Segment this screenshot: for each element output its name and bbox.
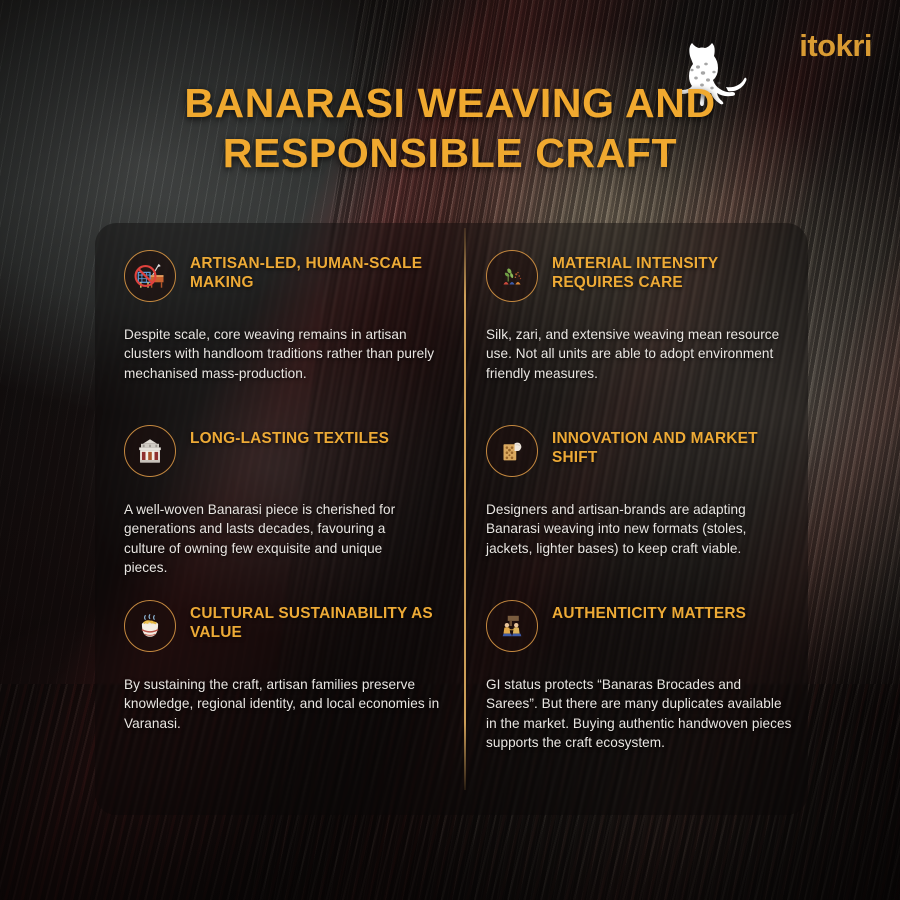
card-title: ARTISAN-LED, HUMAN-SCALE MAKING bbox=[190, 250, 440, 292]
heritage-building-icon bbox=[124, 425, 176, 477]
page-title: BANARASI WEAVING AND RESPONSIBLE CRAFT bbox=[0, 78, 900, 178]
card-header: LONG-LASTING TEXTILES bbox=[124, 425, 440, 477]
card-body: A well-woven Banarasi piece is cherished… bbox=[124, 500, 424, 577]
points-grid: ARTISAN-LED, HUMAN-SCALE MAKING Despite … bbox=[95, 223, 808, 815]
card-innovation-market-shift: INNOVATION AND MARKET SHIFT Designers an… bbox=[464, 398, 808, 573]
card-title: MATERIAL INTENSITY REQUIRES CARE bbox=[552, 250, 794, 292]
card-long-lasting-textiles: LONG-LASTING TEXTILES A well-woven Banar… bbox=[95, 398, 464, 573]
card-cultural-sustainability: CULTURAL SUSTAINABILITY AS VALUE By sust… bbox=[95, 573, 464, 763]
card-title: INNOVATION AND MARKET SHIFT bbox=[552, 425, 794, 467]
card-body: Silk, zari, and extensive weaving mean r… bbox=[486, 325, 794, 383]
steaming-clay-pot-icon bbox=[124, 600, 176, 652]
card-artisan-led: ARTISAN-LED, HUMAN-SCALE MAKING Despite … bbox=[95, 223, 464, 398]
card-body: Designers and artisan-brands are adaptin… bbox=[486, 500, 794, 558]
card-title: AUTHENTICITY MATTERS bbox=[552, 600, 746, 623]
card-body: Despite scale, core weaving remains in a… bbox=[124, 325, 440, 383]
card-title: LONG-LASTING TEXTILES bbox=[190, 425, 389, 448]
card-header: INNOVATION AND MARKET SHIFT bbox=[486, 425, 794, 477]
card-header: ARTISAN-LED, HUMAN-SCALE MAKING bbox=[124, 250, 440, 302]
hand-holding-brocade-swatch-icon bbox=[486, 425, 538, 477]
two-artisans-at-loom-icon bbox=[486, 600, 538, 652]
card-title: CULTURAL SUSTAINABILITY AS VALUE bbox=[190, 600, 440, 642]
card-material-intensity: MATERIAL INTENSITY REQUIRES CARE Silk, z… bbox=[464, 223, 808, 398]
card-authenticity-matters: AUTHENTICITY MATTERS GI status protects … bbox=[464, 573, 808, 763]
card-body: By sustaining the craft, artisan familie… bbox=[124, 675, 440, 733]
brand-logo-text: itokri bbox=[799, 30, 872, 61]
no-machine-loom-icon bbox=[124, 250, 176, 302]
card-header: AUTHENTICITY MATTERS bbox=[486, 600, 794, 652]
card-header: CULTURAL SUSTAINABILITY AS VALUE bbox=[124, 600, 440, 652]
card-header: MATERIAL INTENSITY REQUIRES CARE bbox=[486, 250, 794, 302]
card-body: GI status protects “Banaras Brocades and… bbox=[486, 675, 794, 752]
infographic-canvas: itokri BANARASI WEAVING AND RESPONSIBLE … bbox=[0, 0, 900, 900]
leaves-and-dye-pigments-icon bbox=[486, 250, 538, 302]
brand-logo[interactable]: itokri bbox=[799, 30, 872, 61]
